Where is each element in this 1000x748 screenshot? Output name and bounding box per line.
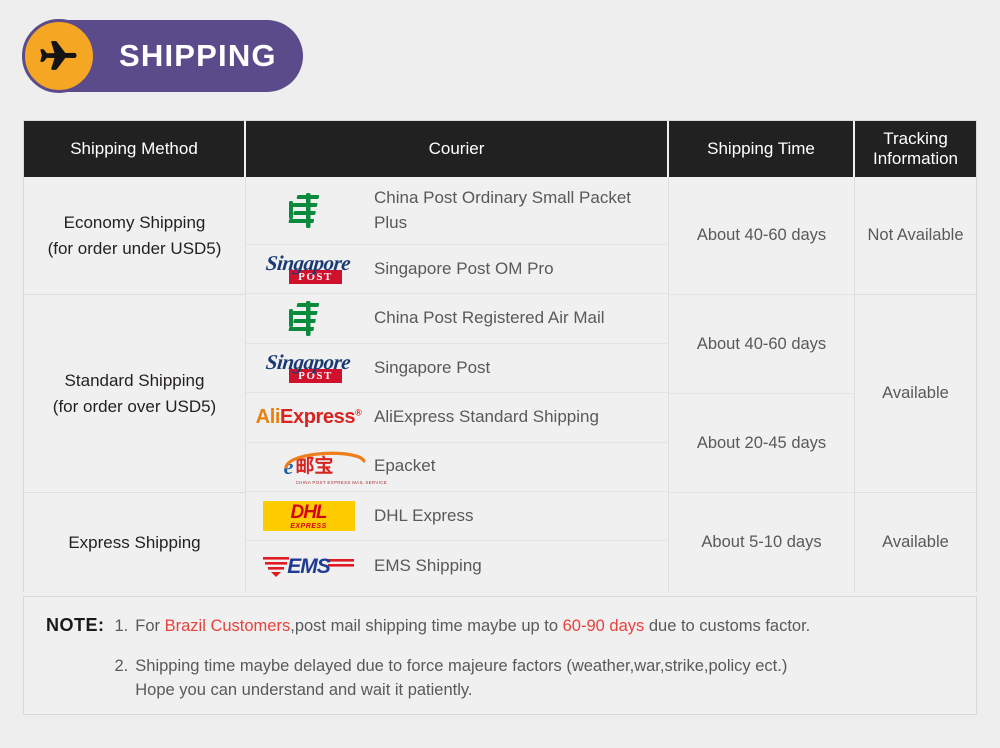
courier-row: EMS EMS Shipping bbox=[246, 541, 668, 590]
page-title: SHIPPING bbox=[119, 38, 277, 74]
shipping-time-cell: About 40-60 days bbox=[669, 177, 854, 295]
courier-name: Singapore Post OM Pro bbox=[371, 257, 554, 282]
courier-column: China Post Ordinary Small Packet Plus Si… bbox=[246, 177, 669, 592]
dhl-logo: DHL EXPRESS bbox=[246, 492, 371, 540]
singapore-post-script: Singapore bbox=[265, 353, 351, 372]
note-label: NOTE: bbox=[46, 615, 105, 636]
epacket-logo: e 邮宝 CHINA POST EXPRESS MAIL SERVICE bbox=[246, 443, 371, 491]
ems-text: EMS bbox=[287, 556, 330, 577]
china-post-logo bbox=[246, 294, 371, 342]
method-name: Express Shipping bbox=[68, 530, 200, 556]
column-header-tracking-information: Tracking Information bbox=[855, 121, 976, 177]
table-header-row: Shipping Method Courier Shipping Time Tr… bbox=[24, 121, 976, 177]
note-highlight: Brazil Customers bbox=[165, 617, 291, 635]
courier-row: e 邮宝 CHINA POST EXPRESS MAIL SERVICE Epa… bbox=[246, 443, 668, 492]
dhl-main-text: DHL bbox=[290, 503, 326, 522]
note-list: 1. For Brazil Customers,post mail shippi… bbox=[115, 615, 955, 702]
column-header-shipping-time: Shipping Time bbox=[669, 121, 855, 177]
note-text: For Brazil Customers,post mail shipping … bbox=[135, 615, 810, 638]
singapore-post-script: Singapore bbox=[265, 254, 351, 273]
shipping-time-cell: About 20-45 days bbox=[669, 394, 854, 493]
courier-row: Singapore POST Singapore Post OM Pro bbox=[246, 245, 668, 294]
shipping-time-cell: About 5-10 days bbox=[669, 493, 854, 592]
note-item: 1. For Brazil Customers,post mail shippi… bbox=[115, 615, 955, 638]
airplane-icon bbox=[22, 19, 96, 93]
aliexpress-logo: AliExpress® bbox=[246, 393, 371, 441]
method-cell-standard: Standard Shipping (for order over USD5) bbox=[24, 295, 245, 493]
method-cell-economy: Economy Shipping (for order under USD5) bbox=[24, 177, 245, 295]
courier-row: Singapore POST Singapore Post bbox=[246, 344, 668, 393]
column-header-courier: Courier bbox=[246, 121, 669, 177]
note-subtext: Hope you can understand and wait it pati… bbox=[135, 679, 787, 702]
shipping-time-cell: About 40-60 days bbox=[669, 295, 854, 394]
tracking-status-cell: Available bbox=[855, 295, 976, 493]
method-name: Standard Shipping bbox=[65, 368, 205, 394]
courier-row: DHL EXPRESS DHL Express bbox=[246, 492, 668, 541]
singapore-post-logo: Singapore POST bbox=[246, 344, 371, 392]
courier-row: China Post Ordinary Small Packet Plus bbox=[246, 177, 668, 245]
note-text: Shipping time maybe delayed due to force… bbox=[135, 655, 787, 702]
note-item: 2. Shipping time maybe delayed due to fo… bbox=[115, 655, 955, 702]
note-section: NOTE: 1. For Brazil Customers,post mail … bbox=[23, 596, 977, 715]
shipping-info-page: SHIPPING Shipping Method Courier Shippin… bbox=[0, 0, 1000, 748]
tracking-information-column: Not Available Available Available bbox=[855, 177, 976, 592]
singapore-post-logo: Singapore POST bbox=[246, 245, 371, 293]
china-post-logo bbox=[246, 177, 371, 244]
courier-name: AliExpress Standard Shipping bbox=[371, 405, 599, 430]
note-number: 2. bbox=[115, 655, 129, 678]
tracking-status-cell: Available bbox=[855, 493, 976, 592]
courier-name: Singapore Post bbox=[371, 356, 490, 381]
tracking-status-cell: Not Available bbox=[855, 177, 976, 295]
ems-logo: EMS bbox=[246, 541, 371, 590]
courier-name: China Post Ordinary Small Packet Plus bbox=[371, 186, 668, 235]
note-highlight: 60-90 days bbox=[563, 617, 645, 635]
method-qualifier: (for order over USD5) bbox=[53, 394, 216, 420]
shipping-time-column: About 40-60 days About 40-60 days About … bbox=[669, 177, 855, 592]
courier-name: EMS Shipping bbox=[371, 554, 482, 579]
courier-row: China Post Registered Air Mail bbox=[246, 294, 668, 343]
registered-mark-icon: ® bbox=[355, 407, 361, 417]
courier-row: AliExpress® AliExpress Standard Shipping bbox=[246, 393, 668, 442]
shipping-header-badge: SHIPPING bbox=[23, 20, 303, 92]
aliexpress-express-text: Express bbox=[280, 406, 355, 428]
method-qualifier: (for order under USD5) bbox=[48, 236, 222, 262]
shipping-method-column: Economy Shipping (for order under USD5) … bbox=[24, 177, 246, 592]
table-body: Economy Shipping (for order under USD5) … bbox=[24, 177, 976, 592]
shipping-table: Shipping Method Courier Shipping Time Tr… bbox=[23, 120, 977, 592]
courier-name: Epacket bbox=[371, 454, 435, 479]
courier-name: DHL Express bbox=[371, 504, 474, 529]
note-number: 1. bbox=[115, 615, 129, 638]
method-name: Economy Shipping bbox=[64, 210, 206, 236]
epacket-subtitle: CHINA POST EXPRESS MAIL SERVICE bbox=[296, 480, 388, 485]
method-cell-express: Express Shipping bbox=[24, 493, 245, 592]
courier-name: China Post Registered Air Mail bbox=[371, 306, 605, 331]
dhl-sub-text: EXPRESS bbox=[290, 523, 327, 530]
column-header-shipping-method: Shipping Method bbox=[24, 121, 246, 177]
aliexpress-ali-text: Ali bbox=[256, 406, 280, 428]
